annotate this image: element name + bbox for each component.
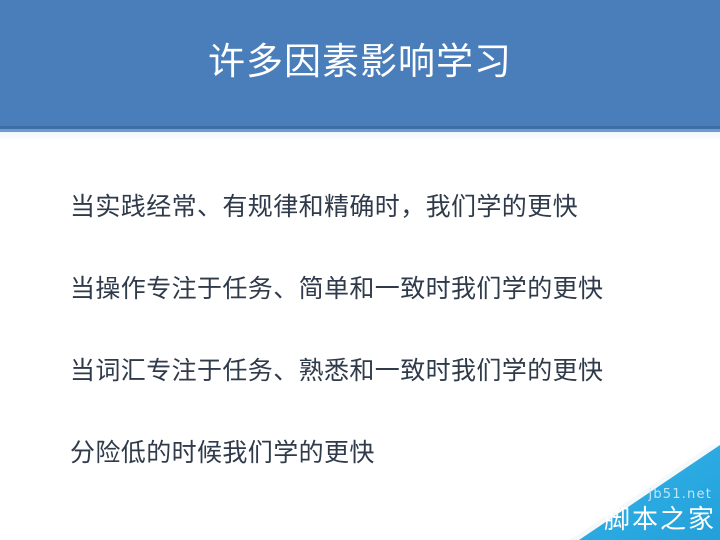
body-line: 当实践经常、有规律和精确时，我们学的更快 bbox=[70, 190, 680, 224]
slide-title: 许多因素影响学习 bbox=[0, 38, 720, 86]
header-glow-gradient bbox=[0, 132, 720, 141]
body-line: 当词汇专注于任务、熟悉和一致时我们学的更快 bbox=[70, 354, 680, 388]
watermark-brand-name: 脚本之家 bbox=[604, 505, 716, 536]
corner-fold-watermark: jb51.net 脚本之家 bbox=[570, 445, 720, 540]
presentation-slide: 许多因素影响学习 当实践经常、有规律和精确时，我们学的更快 当操作专注于任务、简… bbox=[0, 0, 720, 540]
body-line: 当操作专注于任务、简单和一致时我们学的更快 bbox=[70, 272, 680, 306]
slide-body: 当实践经常、有规律和精确时，我们学的更快 当操作专注于任务、简单和一致时我们学的… bbox=[70, 190, 680, 470]
watermark-site-url: jb51.net bbox=[649, 487, 712, 502]
